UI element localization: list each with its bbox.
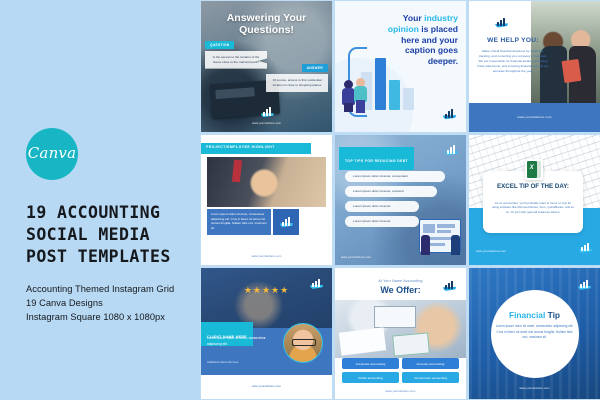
tile1-answer-tag: ANSWER (302, 64, 328, 72)
description-list: Accounting Themed Instagram Grid 19 Canv… (26, 283, 200, 324)
template-grid: Answering Your Questions! QUESTION Is th… (200, 0, 600, 400)
brand-mark-icon (443, 109, 456, 120)
tile4-watermark: www.yoursitehere.com (201, 255, 332, 258)
photo-desk-charts (335, 300, 466, 358)
person-illustration-1 (421, 235, 430, 255)
tile4-body: Lorem ipsum dolor sit amet, consectetur … (207, 209, 271, 235)
tile3-body: Make critical financial decisions by col… (477, 49, 549, 74)
left-info-panel: Canva 19 Accounting Social Media Post Te… (0, 0, 200, 400)
tile7-quote: Lorem ipsum dolor sit amet, consectetur … (207, 336, 277, 347)
tile4-band-label: PROJECT/EMPLOYEE HIGHLIGHT (206, 145, 275, 149)
tile1-watermark: www.yoursitehere.com (201, 122, 332, 125)
tile7-footer: www.yoursitehere.com (201, 375, 332, 399)
template-tile-financial-tip[interactable]: Financial Tip Lorem ipsum dolor sit amet… (469, 268, 600, 399)
template-tile-excel-tip[interactable]: EXCEL TIP OF THE DAY: As an accountant, … (469, 135, 600, 266)
brand-mark-icon (443, 280, 456, 291)
tile1-question-tag: QUESTION (205, 41, 234, 49)
tile1-question-text: Is the access to the location of the hou… (205, 51, 267, 69)
tile7-subnote: Additional client info here (207, 360, 277, 364)
brand-mark-icon (310, 278, 323, 289)
tile5-watermark: www.yoursitehere.com (341, 256, 371, 259)
description-line-2: 19 Canva Designs (26, 297, 200, 311)
tile9-body: Lorem ipsum dolor sit amet, consectetur … (495, 324, 574, 340)
page-title: 19 Accounting Social Media Post Template… (26, 202, 198, 267)
brand-mark-icon (578, 279, 591, 290)
client-avatar (283, 323, 323, 363)
tile5-tip-4: Lorem ipsum dolor sit amet (345, 219, 390, 223)
tile9-watermark: www.yoursitehere.com (469, 387, 600, 390)
template-tile-project-highlight[interactable]: PROJECT/EMPLOYEE HIGHLIGHT Lorem ipsum d… (201, 135, 332, 266)
tile5-tip-pill: Lorem ipsum dolor sit amet (345, 216, 419, 227)
brand-mark-icon (280, 217, 293, 228)
service-button-corporate[interactable]: Corporate accounting (342, 358, 399, 369)
template-tile-client-testimonial[interactable]: ★★★★★ CLIENT NAME HERE Lorem ipsum dolor… (201, 268, 332, 399)
tile5-tip-pill: Lorem ipsum dolor sit amet, consectetur (345, 171, 445, 182)
tile1-heading: Answering Your Questions! (201, 12, 332, 37)
canva-logo-badge: Canva (26, 128, 78, 180)
template-tile-industry-opinion[interactable]: Your industry opinion is placed here and… (335, 1, 466, 132)
template-tile-top-tips-debt[interactable]: TOP TIPS FOR REDUCING DEBT Lorem ipsum d… (335, 135, 466, 266)
tile9-heading: Financial Tip (469, 310, 600, 320)
tile3-footer: www.yoursitehere.com (469, 103, 600, 132)
person-illustration-2 (451, 235, 460, 255)
blue-overlay (201, 268, 332, 328)
tile8-service-buttons: Corporate accounting Forensic accounting… (342, 358, 459, 383)
person-illustration-2 (353, 78, 368, 114)
tile5-tip-1: Lorem ipsum dolor sit amet, consectetur (345, 174, 408, 178)
tile4-body-panel: Lorem ipsum dolor sit amet, consectetur … (207, 209, 271, 235)
tile6-body: As an accountant, you'll probably want t… (491, 201, 575, 215)
template-tile-we-help-you[interactable]: WE HELP YOU: Make critical financial dec… (469, 1, 600, 132)
service-button-forensic[interactable]: Forensic accounting (402, 358, 459, 369)
photo-handshake (207, 157, 326, 207)
brand-mark-icon (261, 107, 274, 118)
service-button-government[interactable]: Government accounting (402, 372, 459, 383)
description-line-1: Accounting Themed Instagram Grid (26, 283, 200, 297)
tile5-tip-3: Lorem ipsum dolor sit amet (345, 204, 390, 208)
excel-icon (525, 159, 543, 180)
tile7-watermark: www.yoursitehere.com (201, 384, 332, 388)
tile5-tip-pill: Lorem ipsum dolor sit amet (345, 201, 419, 212)
preview-canvas: Canva 19 Accounting Social Media Post Te… (0, 0, 600, 400)
tile2-watermark: www.yoursitehere.com (431, 59, 457, 62)
canva-logo-text: Canva (28, 144, 77, 162)
brand-mark-icon (579, 242, 592, 253)
tile8-watermark: www.yoursitehere.com (335, 390, 466, 393)
brand-mark-icon (445, 145, 458, 156)
tile1-answer-text: Of course, access to this residential lo… (266, 74, 328, 92)
tile6-watermark: www.yoursitehere.com (476, 250, 506, 253)
tile6-heading: EXCEL TIP OF THE DAY: (487, 183, 579, 191)
service-button-public[interactable]: Public accounting (342, 372, 399, 383)
template-tile-answering-questions[interactable]: Answering Your Questions! QUESTION Is th… (201, 1, 332, 132)
tile3-heading: WE HELP YOU: (474, 37, 552, 44)
tile4-band: PROJECT/EMPLOYEE HIGHLIGHT (201, 143, 311, 154)
brand-mark-icon (495, 17, 508, 28)
description-line-3: Instagram Square 1080 x 1080px (26, 311, 200, 325)
tile5-tip-pill: Lorem ipsum dolor sit amet, consecti (345, 186, 437, 197)
template-tile-we-offer[interactable]: At Your Name Accounting We Offer: Corpor… (335, 268, 466, 399)
tile3-watermark: www.yoursitehere.com (469, 115, 600, 119)
tile5-tip-2: Lorem ipsum dolor sit amet, consecti (345, 189, 403, 193)
tile5-band-label: TOP TIPS FOR REDUCING DEBT (345, 159, 408, 163)
tile4-logo-block (273, 209, 299, 235)
tile5-band: TOP TIPS FOR REDUCING DEBT (339, 147, 414, 170)
